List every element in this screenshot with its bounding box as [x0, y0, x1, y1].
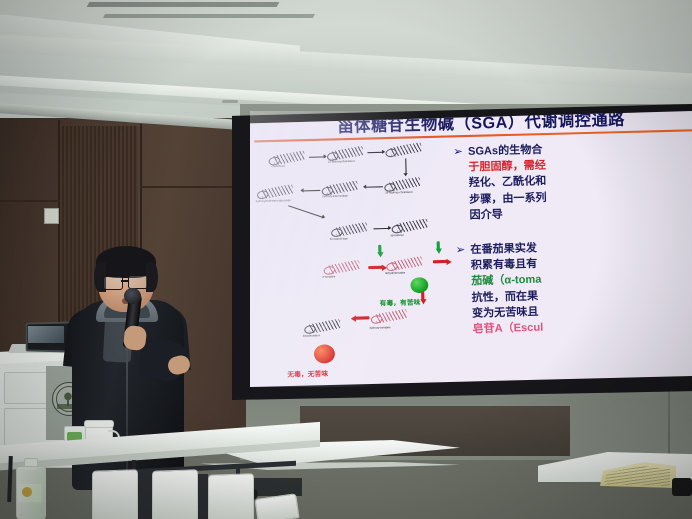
- molecule-label: α-tomatine: [322, 275, 335, 278]
- molecule-structure: [273, 150, 306, 165]
- projection-screen-surface: 甾体糖苷生物碱（SGA）代谢调控通路 cholesterol 22-hydrox…: [250, 111, 692, 387]
- laptop-screen-glow: [28, 326, 64, 343]
- molecule-structure: [396, 218, 429, 233]
- wood-seam-horizontal-left: [0, 200, 60, 202]
- reaction-arrow: [309, 156, 326, 157]
- taste-label-nontoxic: 无毒，无苦味: [287, 367, 328, 378]
- bullet-line: 在番茄果实发: [470, 242, 537, 256]
- chair[interactable]: [254, 493, 299, 519]
- glasses-lens-left-icon: [103, 276, 123, 290]
- molecule-structure: [328, 260, 361, 275]
- molecule-label: hydroxy-tomatine: [370, 326, 391, 330]
- molecule-structure: [390, 142, 423, 157]
- bullet-line: 步骤，由一系列: [469, 191, 547, 205]
- reaction-arrow-red: [355, 316, 370, 320]
- chair[interactable]: [152, 469, 198, 519]
- bullet-body: 在番茄果实发 积累有毒且有 茄碱（α-toma 抗性，而在果 变为无苦味且 皂苷…: [470, 241, 543, 338]
- water-bottle-logo: [22, 487, 32, 497]
- slide-bullet-list: ➢ SGAs的生物合 于胆固醇，需经 羟化、乙酰化和 步骤，由一系列 因介导 ➢…: [453, 138, 692, 357]
- glasses-bridge-icon: [121, 280, 128, 282]
- molecule-structure: [335, 222, 368, 237]
- molecule-label: 26-hydroxy-cholesterol: [385, 191, 413, 195]
- chair-gap: [136, 470, 152, 519]
- bullet-line: 抗性，而在果: [472, 290, 539, 304]
- molecule-structure: [375, 309, 408, 324]
- red-tomato-icon: [314, 344, 335, 363]
- reaction-arrow: [367, 152, 384, 153]
- reaction-arrow-green: [378, 245, 381, 253]
- bullet-marker: ➢: [453, 145, 465, 225]
- foreground-table-leg-left: [7, 456, 13, 502]
- molecule-label: furostanol-type: [330, 237, 348, 241]
- reaction-arrow-green: [437, 241, 440, 249]
- reaction-arrow: [374, 228, 391, 229]
- bullet-line: SGAs的生物合: [468, 144, 543, 158]
- reaction-arrow-vertical: [405, 158, 406, 173]
- molecule-label: hydroxy-intermediate: [323, 194, 348, 198]
- reaction-arrow-red: [421, 292, 424, 300]
- reaction-arrow-red: [433, 260, 448, 264]
- lecture-room-photo: 甾体糖苷生物碱（SGA）代谢调控通路 cholesterol 22-hydrox…: [0, 0, 692, 519]
- bullet-line: 皂苷A（Escul: [472, 321, 543, 335]
- bullet-line: 羟化、乙酰化和: [469, 175, 547, 189]
- molecule-label: hydroxycholesterol-glucoside: [256, 199, 291, 203]
- wood-seam-horizontal: [140, 186, 248, 188]
- metabolic-pathway-diagram: cholesterol 22-hydroxycholesterol 26-hyd…: [250, 143, 465, 387]
- green-tomato-icon: [410, 277, 428, 293]
- reaction-arrow: [364, 186, 383, 188]
- slide-bullet-item: ➢ 在番茄果实发 积累有毒且有 茄碱（α-toma 抗性，而在果 变为无苦味且 …: [455, 236, 692, 338]
- molecule-structure: [389, 177, 422, 192]
- reaction-arrow: [301, 190, 320, 192]
- chair[interactable]: [92, 469, 138, 519]
- molecule-label: spirostanol: [390, 234, 403, 237]
- ceiling-strip-light-secondary: [103, 14, 315, 18]
- bullet-line: 茄碱（α-toma: [471, 274, 541, 288]
- slide-bullet-item: ➢ SGAs的生物合 于胆固醇，需经 羟化、乙酰化和 步骤，由一系列 因介导: [453, 138, 692, 224]
- bullet-body: SGAs的生物合 于胆固醇，需经 羟化、乙酰化和 步骤，由一系列 因介导: [468, 142, 547, 223]
- molecule-structure: [261, 184, 294, 199]
- reaction-arrow-red: [368, 266, 383, 270]
- reaction-arrow-diagonal: [288, 205, 324, 218]
- chair[interactable]: [208, 473, 254, 519]
- bullet-line: 变为无苦味且: [472, 305, 539, 319]
- white-mug-lid[interactable]: [84, 420, 114, 428]
- bullet-line: 因介导: [469, 208, 503, 221]
- molecule-label: dehydrotomatine: [385, 271, 405, 275]
- bullet-line: 积累有毒且有: [471, 258, 538, 272]
- molecule-label: 22-hydroxycholesterol: [328, 160, 355, 164]
- bullet-marker: ➢: [455, 243, 467, 339]
- molecule-structure: [331, 146, 364, 161]
- taste-label-toxic: 有毒，有苦味: [379, 296, 420, 307]
- molecule-label: Esculeoside A: [303, 334, 320, 338]
- molecule-structure: [326, 180, 359, 195]
- molecule-structure: [391, 256, 424, 271]
- molecule-structure: [309, 319, 342, 334]
- molecule-label: cholesterol: [272, 165, 285, 168]
- ceiling-vent: [222, 100, 238, 103]
- bullet-line: 于胆固醇，需经: [468, 159, 546, 173]
- ceiling-strip-light: [87, 2, 280, 7]
- wall-outlet-plate[interactable]: [44, 208, 59, 224]
- notebook-cover: [672, 478, 692, 496]
